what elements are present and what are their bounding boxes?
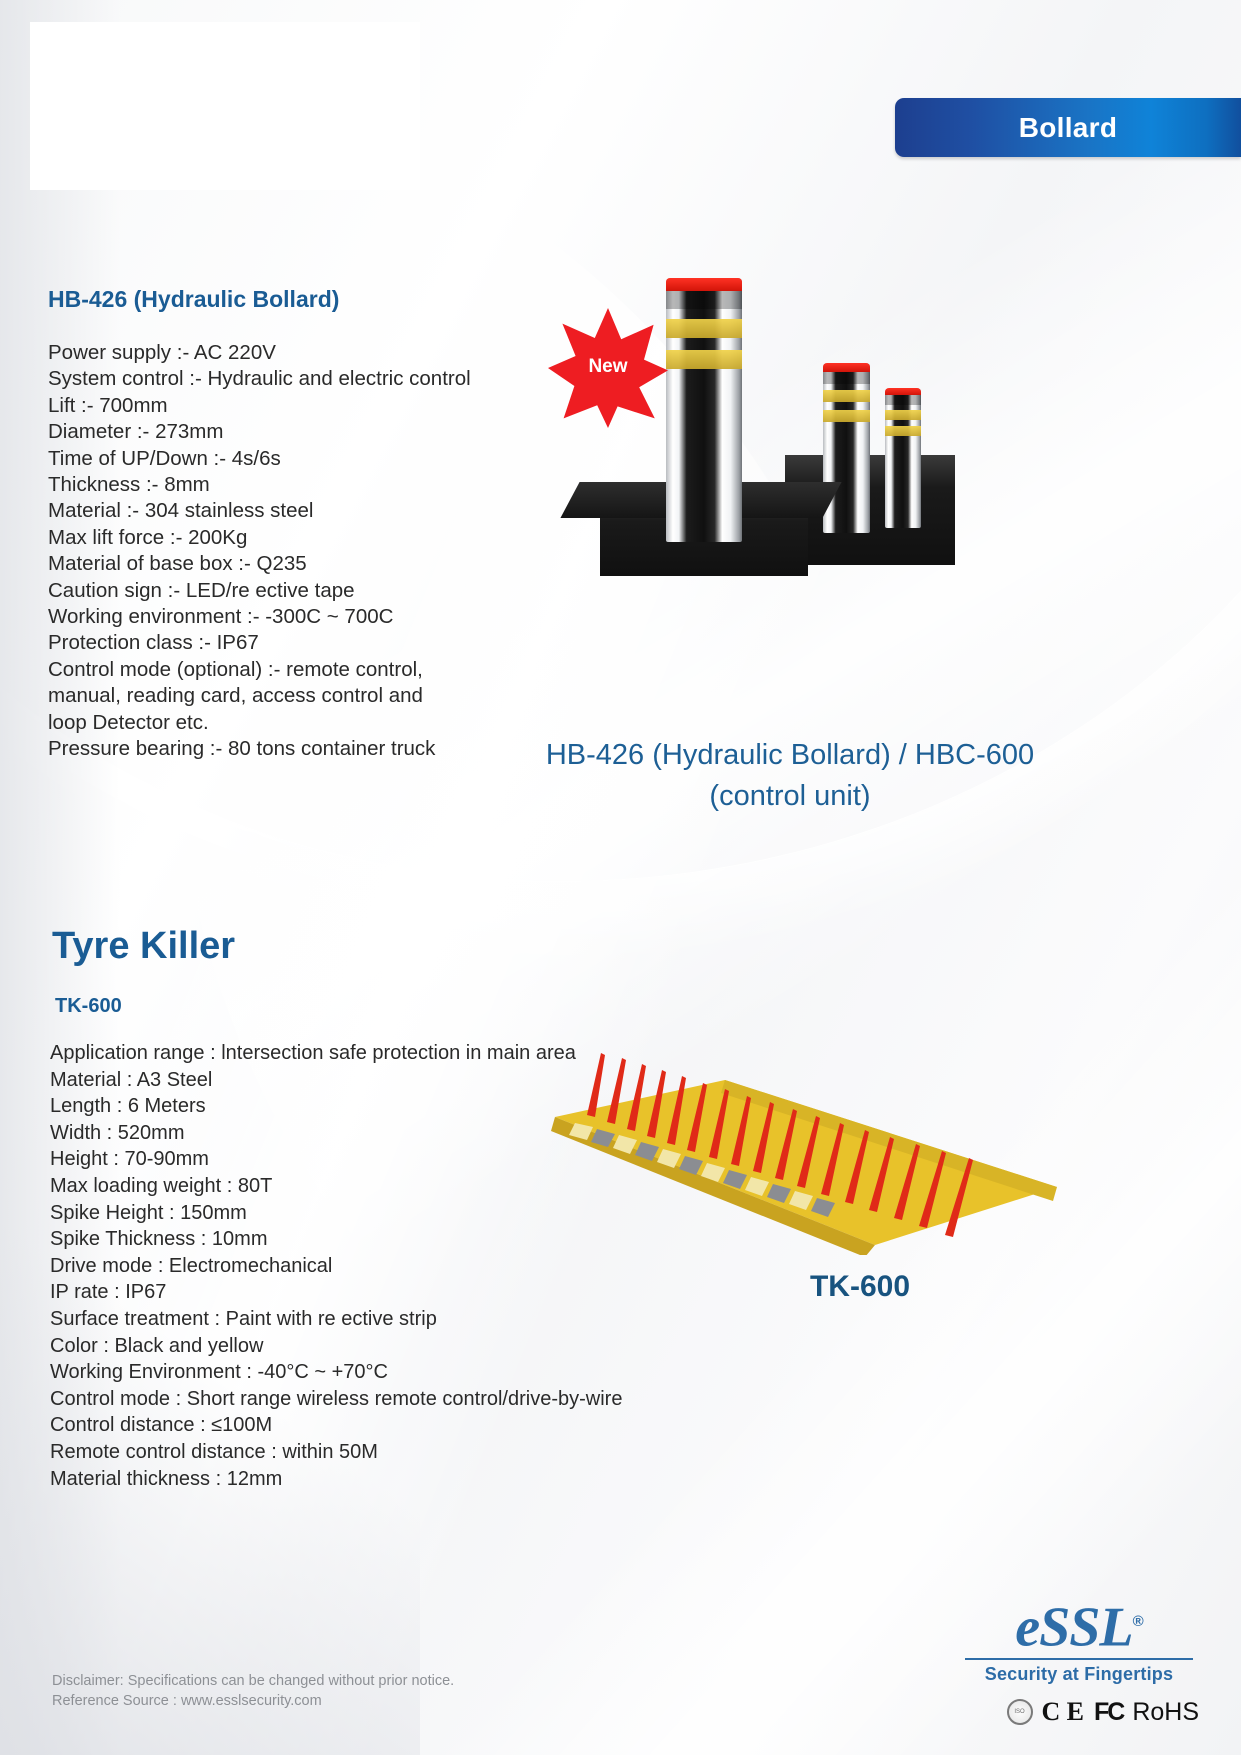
bollard-product-image: New — [540, 250, 1010, 590]
bollard-image-caption: HB-426 (Hydraulic Bollard) / HBC-600 (co… — [540, 735, 1040, 817]
bollard-unit-main — [666, 278, 742, 542]
tyre-killer-model-title: TK-600 — [55, 995, 122, 1018]
bollard-unit-medium — [823, 363, 870, 533]
spike-barrier-illustration — [545, 1045, 1065, 1255]
tyre-killer-product-image — [545, 985, 1075, 1265]
tyre-killer-section-title: Tyre Killer — [52, 925, 235, 968]
page-content: HB-426 (Hydraulic Bollard) Power supply … — [0, 0, 1241, 1755]
new-badge-label: New — [548, 308, 668, 428]
bollard-unit-small — [885, 388, 921, 528]
bollard-spec-list: Power supply :- AC 220V System control :… — [48, 340, 608, 763]
tyre-killer-image-caption: TK-600 — [720, 1270, 1000, 1304]
new-badge: New — [548, 308, 668, 428]
bollard-product-title: HB-426 (Hydraulic Bollard) — [48, 286, 339, 313]
